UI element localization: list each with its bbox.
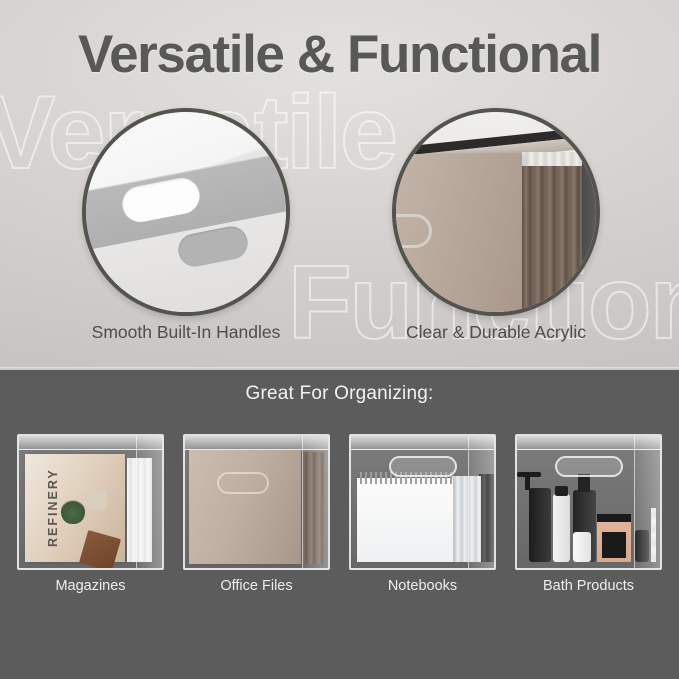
organizing-tile-notebooks [343,426,502,574]
label-bath-products: Bath Products [509,578,668,594]
bin-top-lip [351,436,494,450]
handle-cutout-icon [392,214,432,248]
acrylic-bin [183,434,330,570]
magazine-cover: REFINERY [25,454,125,562]
organizing-tile-magazines: REFINERY [11,426,170,574]
label-magazines: Magazines [11,578,170,594]
cover-plant-graphic [61,498,85,524]
product-infographic: Versatile Function Versatile & Functiona… [0,0,679,679]
organizing-label-row: Magazines Office Files Notebooks Bath Pr… [11,578,668,594]
handle-cutout-icon [555,456,623,477]
organizing-tile-office-files [177,426,336,574]
feature-item-acrylic: Clear & Durable Acrylic [392,108,600,316]
bin-front-panel [392,154,522,316]
jar-label [602,532,626,558]
bin-right-wall [302,436,328,568]
features-section: Versatile Function Versatile & Functiona… [0,0,679,370]
bin-right-wall [634,436,660,568]
label-office-files: Office Files [177,578,336,594]
bin-top-lip [517,436,660,450]
feature-circle-group: Smooth Built-In Handles [0,108,679,323]
black-soap-dispenser [529,488,551,562]
feature-caption-acrylic: Clear & Durable Acrylic [352,322,640,343]
magazine-title: REFINERY [46,443,60,547]
white-bottle-cap [555,486,568,496]
white-bottle-small [573,532,591,562]
bin-top-lip [185,436,328,450]
cover-lamp-graphic [85,490,107,510]
organizing-title: Great For Organizing: [0,370,679,405]
dispenser-nozzle [517,472,541,477]
jar-lid [597,514,631,522]
acrylic-bin [515,434,662,570]
label-notebooks: Notebooks [343,578,502,594]
file-folders [522,152,582,316]
cover-chair-graphic [79,530,121,570]
feature-caption-handles: Smooth Built-In Handles [42,322,330,343]
handle-cutout-icon [217,472,269,494]
acrylic-bin [349,434,496,570]
file-front-panel [189,450,301,564]
organizing-tile-bath-products [509,426,668,574]
feature-photo-handles [82,108,290,316]
bin-shadow-side [580,148,600,316]
page-title: Versatile & Functional [0,24,679,85]
organizing-section: Great For Organizing: REFINERY [0,370,679,679]
spiral-notepad [357,478,453,562]
bin-right-wall [136,436,162,568]
handles-illustration [86,112,286,312]
white-bottle [553,494,570,562]
feature-photo-acrylic [392,108,600,316]
file-folder-tabs [522,152,582,166]
bin-right-wall [468,436,494,568]
acrylic-illustration [396,112,596,312]
handle-cutout-icon [389,456,457,477]
bin-top-lip [19,436,162,450]
acrylic-bin: REFINERY [17,434,164,570]
feature-item-handles: Smooth Built-In Handles [82,108,290,316]
organizing-tile-row: REFINERY [11,426,668,574]
